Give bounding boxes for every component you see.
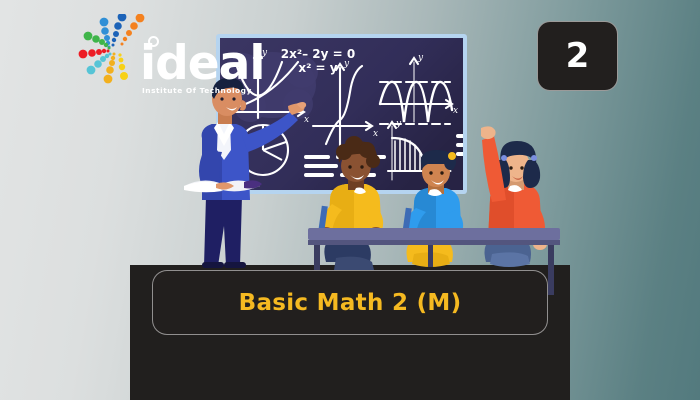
svg-text:y: y (417, 53, 424, 63)
brand-logo: ideal Institute Of Technology (78, 14, 228, 96)
course-title: Basic Math 2 (M) (239, 290, 462, 316)
svg-text:x: x (373, 129, 378, 139)
board-equation-2: x² = y (298, 61, 337, 75)
logo-tagline: Institute Of Technology (142, 86, 252, 95)
svg-text:y: y (343, 59, 350, 69)
logo-wordmark: ideal (140, 40, 264, 87)
course-card: 2x²– 2y = 0 x² = y y x (0, 0, 700, 400)
course-title-bar[interactable]: Basic Math 2 (M) (152, 270, 548, 335)
svg-text:x: x (453, 106, 458, 116)
student-orange (481, 126, 547, 267)
svg-text:x: x (304, 115, 309, 125)
svg-text:y: y (395, 119, 402, 129)
course-number-badge[interactable]: 2 (537, 21, 618, 91)
course-number-value: 2 (566, 36, 590, 76)
